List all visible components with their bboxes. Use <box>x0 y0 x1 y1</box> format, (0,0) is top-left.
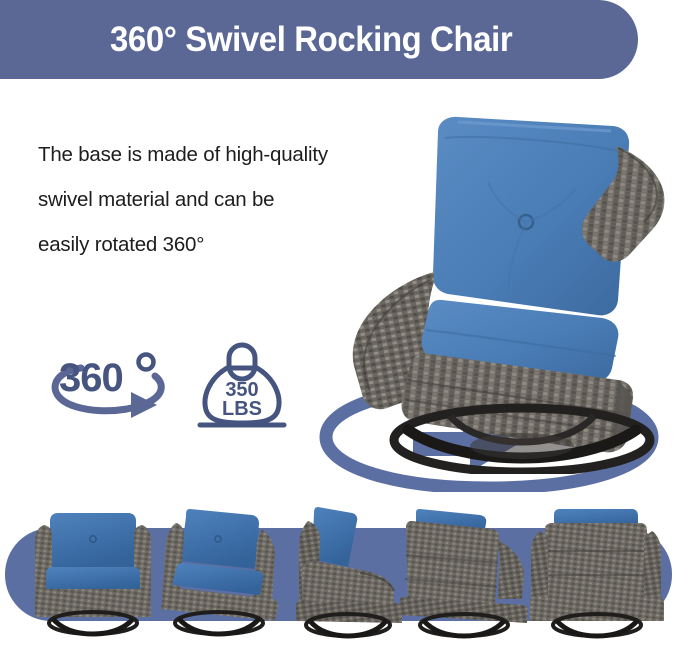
hero-chair-image <box>330 104 675 474</box>
360-rotation-icon: 360 <box>45 344 170 426</box>
svg-text:360: 360 <box>59 356 123 400</box>
feature-360-rotation: 360 360 <box>45 344 170 426</box>
rotation-sequence-chairs <box>0 495 679 647</box>
mini-chair-4 <box>400 509 528 636</box>
mini-chair-1 <box>35 513 151 634</box>
page-title: 360° Swivel Rocking Chair <box>110 0 636 79</box>
mini-chair-2 <box>161 509 278 634</box>
weight-capacity-icon: 350 LBS <box>196 338 288 430</box>
mini-chair-5 <box>530 509 664 636</box>
feature-weight-capacity: 350 LBS 350 LBS <box>196 338 288 430</box>
mini-chair-3 <box>296 507 402 636</box>
svg-text:LBS: LBS <box>222 398 262 420</box>
